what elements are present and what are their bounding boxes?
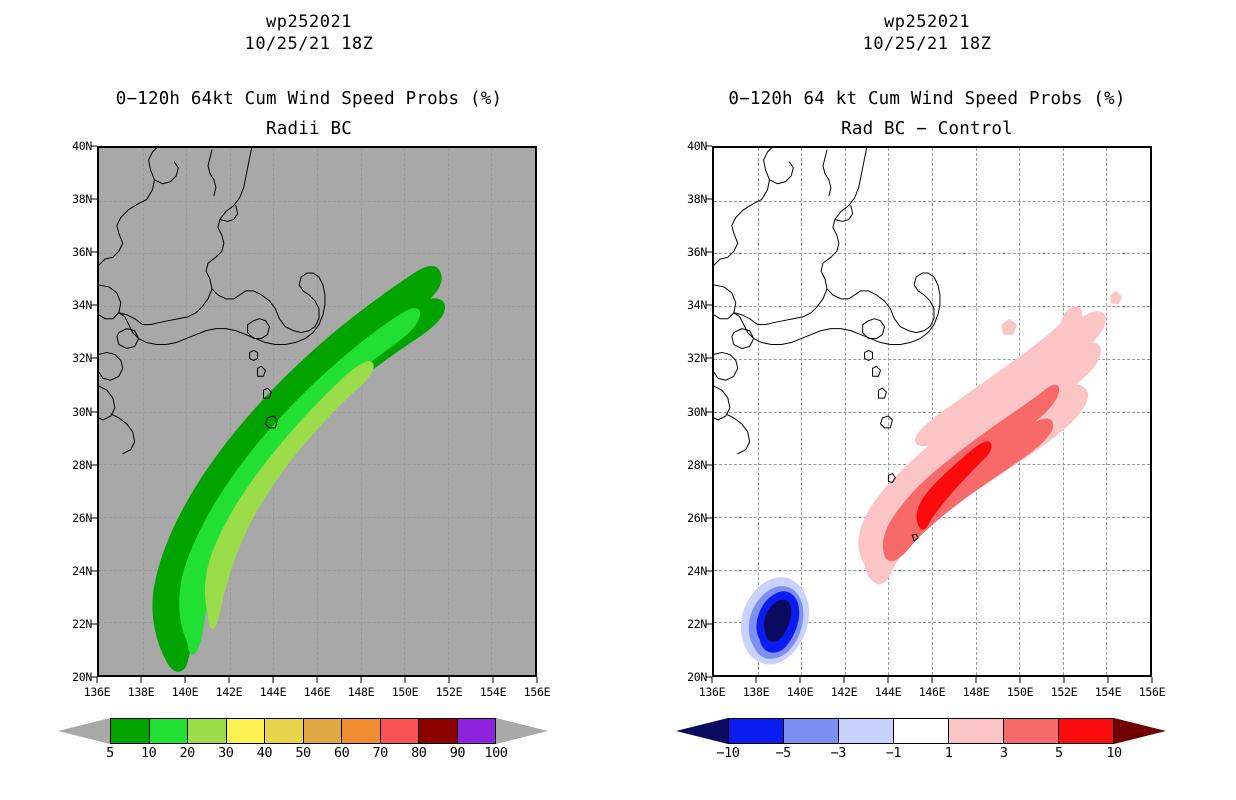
colorbar-tick-label: 80 bbox=[411, 745, 426, 761]
x-tick-label: 138E bbox=[128, 685, 155, 699]
x-tick-label: 154E bbox=[480, 685, 507, 699]
y-tick-label: 20N bbox=[72, 670, 92, 684]
colorbar-tick-label: 30 bbox=[218, 745, 233, 761]
x-tick-label: 138E bbox=[743, 685, 770, 699]
colorbar-tick-label: 70 bbox=[373, 745, 388, 761]
x-tick-label: 156E bbox=[524, 685, 551, 699]
x-tick-mark bbox=[97, 677, 98, 683]
colorbar-swatch bbox=[227, 719, 266, 743]
colorbar-tick-label: −5 bbox=[776, 745, 791, 761]
x-tick-label: 142E bbox=[831, 685, 858, 699]
colorbar-swatch bbox=[265, 719, 304, 743]
x-tick-label: 150E bbox=[1007, 685, 1034, 699]
panel-rad-bc-minus-control: wp252021 10/25/21 18Z 0−120h 64 kt Cum W… bbox=[618, 0, 1236, 800]
y-tick-label: 24N bbox=[687, 564, 707, 578]
x-tick-mark bbox=[844, 677, 845, 683]
colorbar-swatch bbox=[419, 719, 458, 743]
x-tick-mark bbox=[976, 677, 977, 683]
x-tick-mark bbox=[449, 677, 450, 683]
chart-title-right: 0−120h 64 kt Cum Wind Speed Probs (%) bbox=[618, 89, 1236, 109]
panel-radii-bc: wp252021 10/25/21 18Z 0−120h 64kt Cum Wi… bbox=[0, 0, 618, 800]
x-tick-label: 146E bbox=[919, 685, 946, 699]
colorbar-tick-label: −3 bbox=[831, 745, 846, 761]
y-tick-label: 36N bbox=[687, 245, 707, 259]
y-tick-label: 40N bbox=[72, 139, 92, 153]
date-time-left: 10/25/21 18Z bbox=[0, 34, 618, 54]
colorbar-left[interactable]: 5102030405060708090100 bbox=[58, 718, 548, 744]
x-tick-mark bbox=[888, 677, 889, 683]
colorbar-scale bbox=[728, 718, 1114, 744]
colorbar-swatch bbox=[839, 719, 894, 743]
y-tick-label: 30N bbox=[687, 405, 707, 419]
colorbar-tick-label: −1 bbox=[886, 745, 901, 761]
x-tick-mark bbox=[141, 677, 142, 683]
colorbar-arrow-low bbox=[58, 718, 110, 744]
colorbar-arrow-high bbox=[1114, 718, 1166, 744]
storm-id-left: wp252021 bbox=[0, 12, 618, 32]
colorbar-swatch bbox=[150, 719, 189, 743]
x-tick-mark bbox=[361, 677, 362, 683]
x-tick-label: 136E bbox=[699, 685, 726, 699]
colorbar-tick-label: 90 bbox=[450, 745, 465, 761]
colorbar-swatch bbox=[1059, 719, 1113, 743]
y-tick-label: 28N bbox=[72, 458, 92, 472]
colorbar-tick-label: 5 bbox=[1055, 745, 1063, 761]
colorbar-swatch bbox=[342, 719, 381, 743]
x-tick-mark bbox=[493, 677, 494, 683]
colorbar-tick-label: 10 bbox=[1106, 745, 1121, 761]
colorbar-swatch bbox=[111, 719, 150, 743]
colorbar-swatch bbox=[458, 719, 496, 743]
y-tick-label: 36N bbox=[72, 245, 92, 259]
y-tick-label: 30N bbox=[72, 405, 92, 419]
x-tick-mark bbox=[712, 677, 713, 683]
x-tick-mark bbox=[537, 677, 538, 683]
x-tick-mark bbox=[800, 677, 801, 683]
colorbar-tick-label: 10 bbox=[141, 745, 156, 761]
x-tick-mark bbox=[1020, 677, 1021, 683]
colorbar-swatch bbox=[1004, 719, 1059, 743]
chart-title-left: 0−120h 64kt Cum Wind Speed Probs (%) bbox=[0, 89, 618, 109]
y-tick-label: 26N bbox=[72, 511, 92, 525]
x-tick-label: 152E bbox=[436, 685, 463, 699]
colorbar-swatch bbox=[304, 719, 343, 743]
y-tick-label: 38N bbox=[72, 192, 92, 206]
chart-subtitle-right: Rad BC − Control bbox=[618, 119, 1236, 139]
y-tick-label: 32N bbox=[687, 351, 707, 365]
y-tick-label: 28N bbox=[687, 458, 707, 472]
colorbar-swatch bbox=[188, 719, 227, 743]
colorbar-swatch bbox=[381, 719, 420, 743]
x-tick-mark bbox=[317, 677, 318, 683]
colorbar-tick-label: 20 bbox=[180, 745, 195, 761]
x-tick-label: 146E bbox=[304, 685, 331, 699]
y-tick-label: 22N bbox=[72, 617, 92, 631]
x-tick-mark bbox=[229, 677, 230, 683]
y-tick-label: 22N bbox=[687, 617, 707, 631]
y-tick-label: 24N bbox=[72, 564, 92, 578]
x-tick-mark bbox=[273, 677, 274, 683]
colorbar-tick-label: 5 bbox=[106, 745, 114, 761]
colorbar-arrow-high bbox=[496, 718, 548, 744]
x-tick-mark bbox=[756, 677, 757, 683]
y-tick-label: 32N bbox=[72, 351, 92, 365]
colorbar-right[interactable]: −10−5−3−113510 bbox=[676, 718, 1166, 744]
x-tick-label: 148E bbox=[963, 685, 990, 699]
colorbar-scale bbox=[110, 718, 496, 744]
date-time-right: 10/25/21 18Z bbox=[618, 34, 1236, 54]
map-plot-right[interactable]: 136E138E140E142E144E146E148E150E152E154E… bbox=[712, 146, 1152, 677]
y-tick-label: 40N bbox=[687, 139, 707, 153]
colorbar-tick-label: −10 bbox=[717, 745, 740, 761]
colorbar-tick-label: 40 bbox=[257, 745, 272, 761]
x-tick-mark bbox=[405, 677, 406, 683]
y-tick-label: 20N bbox=[687, 670, 707, 684]
colorbar-swatch bbox=[949, 719, 1004, 743]
x-tick-mark bbox=[1064, 677, 1065, 683]
x-tick-mark bbox=[932, 677, 933, 683]
x-tick-label: 142E bbox=[216, 685, 243, 699]
x-tick-label: 144E bbox=[875, 685, 902, 699]
y-tick-label: 38N bbox=[687, 192, 707, 206]
x-tick-label: 136E bbox=[84, 685, 111, 699]
x-tick-label: 152E bbox=[1051, 685, 1078, 699]
y-tick-label: 26N bbox=[687, 511, 707, 525]
chart-subtitle-left: Radii BC bbox=[0, 119, 618, 139]
x-tick-label: 140E bbox=[787, 685, 814, 699]
colorbar-swatch bbox=[729, 719, 784, 743]
colorbar-tick-label: 1 bbox=[945, 745, 953, 761]
colorbar-arrow-low bbox=[676, 718, 728, 744]
x-tick-mark bbox=[1108, 677, 1109, 683]
colorbar-tick-label: 3 bbox=[1000, 745, 1008, 761]
x-tick-label: 154E bbox=[1095, 685, 1122, 699]
y-tick-label: 34N bbox=[72, 298, 92, 312]
colorbar-tick-label: 100 bbox=[485, 745, 508, 761]
x-tick-label: 156E bbox=[1139, 685, 1166, 699]
colorbar-tick-label: 50 bbox=[295, 745, 310, 761]
x-tick-mark bbox=[185, 677, 186, 683]
storm-id-right: wp252021 bbox=[618, 12, 1236, 32]
map-plot-left[interactable]: 136E138E140E142E144E146E148E150E152E154E… bbox=[97, 146, 537, 677]
x-tick-label: 150E bbox=[392, 685, 419, 699]
x-tick-mark bbox=[1152, 677, 1153, 683]
colorbar-swatch bbox=[784, 719, 839, 743]
coastline-overlay-left bbox=[99, 148, 535, 675]
colorbar-swatch bbox=[894, 719, 949, 743]
x-tick-label: 140E bbox=[172, 685, 199, 699]
x-tick-label: 144E bbox=[260, 685, 287, 699]
x-tick-label: 148E bbox=[348, 685, 375, 699]
colorbar-tick-label: 60 bbox=[334, 745, 349, 761]
coastline-overlay-right bbox=[714, 148, 1150, 675]
y-tick-label: 34N bbox=[687, 298, 707, 312]
